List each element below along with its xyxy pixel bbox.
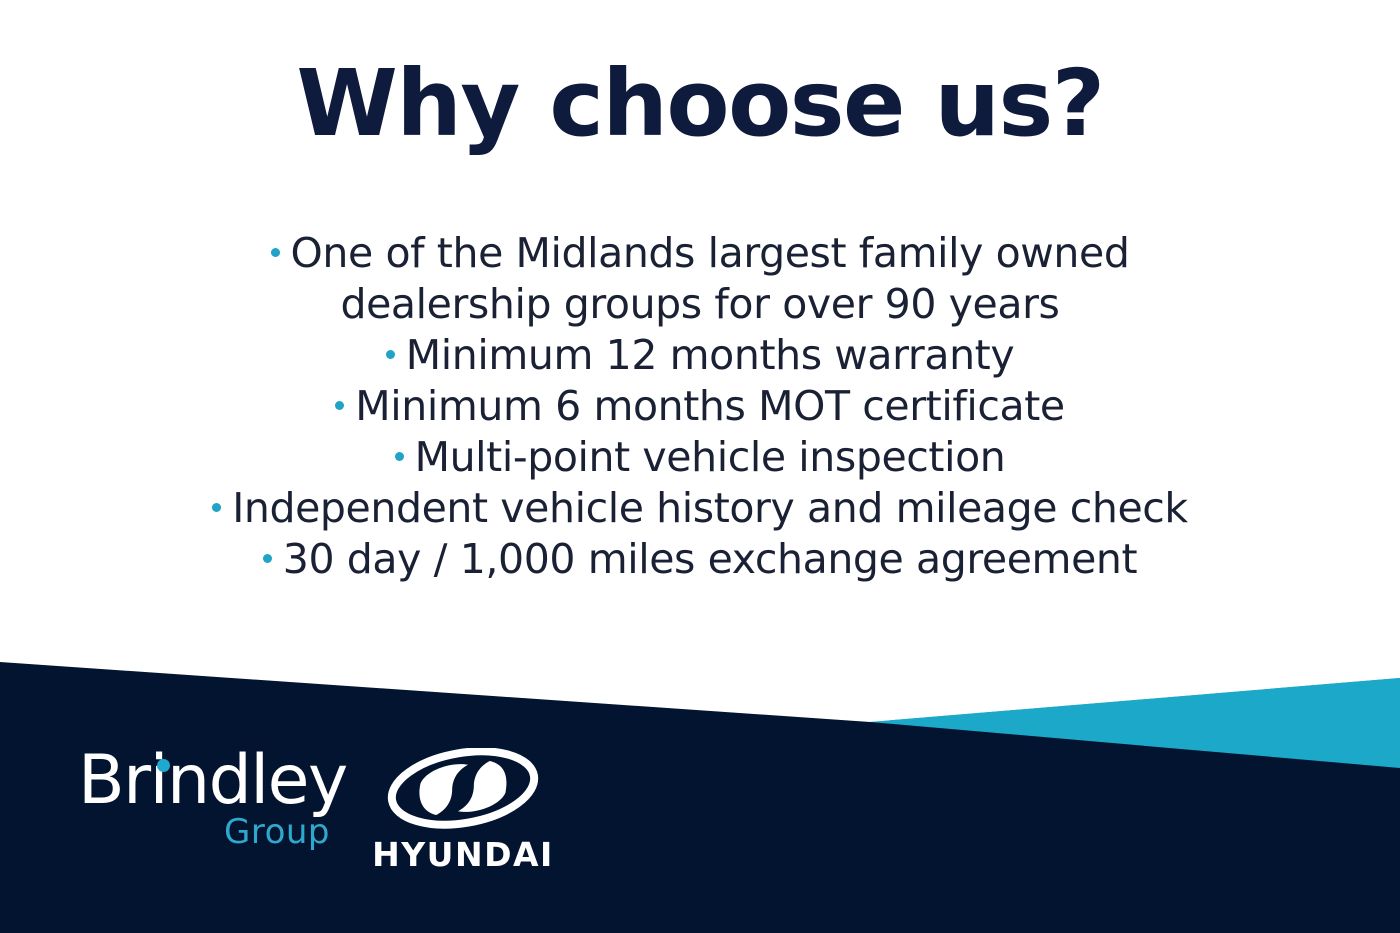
list-item: 30 day / 1,000 miles exchange agreement: [100, 534, 1300, 585]
bullet-dot-icon: [386, 350, 395, 359]
bullet-dot-icon: [271, 248, 280, 257]
benefits-list: One of the Midlands largest family owned…: [100, 228, 1300, 585]
list-item-label: 30 day / 1,000 miles exchange agreement: [283, 535, 1137, 583]
banner-shapes: [0, 640, 1400, 933]
list-item-label: Multi-point vehicle inspection: [415, 433, 1006, 481]
bullet-dot-icon: [263, 554, 272, 563]
list-item-label: Minimum 12 months warranty: [406, 331, 1014, 379]
list-item: Minimum 12 months warranty: [100, 330, 1300, 381]
list-item: Multi-point vehicle inspection: [100, 432, 1300, 483]
list-item-label: Independent vehicle history and mileage …: [232, 484, 1188, 532]
list-item: Minimum 6 months MOT certificate: [100, 381, 1300, 432]
page-title: Why choose us?: [0, 58, 1400, 150]
bullet-dot-icon: [212, 503, 221, 512]
list-item: One of the Midlands largest family owned…: [210, 228, 1190, 330]
promotional-slide: Why choose us? One of the Midlands large…: [0, 0, 1400, 933]
footer-banner: [0, 640, 1400, 933]
list-item-label: Minimum 6 months MOT certificate: [355, 382, 1064, 430]
bullet-dot-icon: [335, 401, 344, 410]
list-item-label: One of the Midlands largest family owned…: [291, 229, 1130, 328]
bullet-dot-icon: [395, 452, 404, 461]
list-item: Independent vehicle history and mileage …: [100, 483, 1300, 534]
